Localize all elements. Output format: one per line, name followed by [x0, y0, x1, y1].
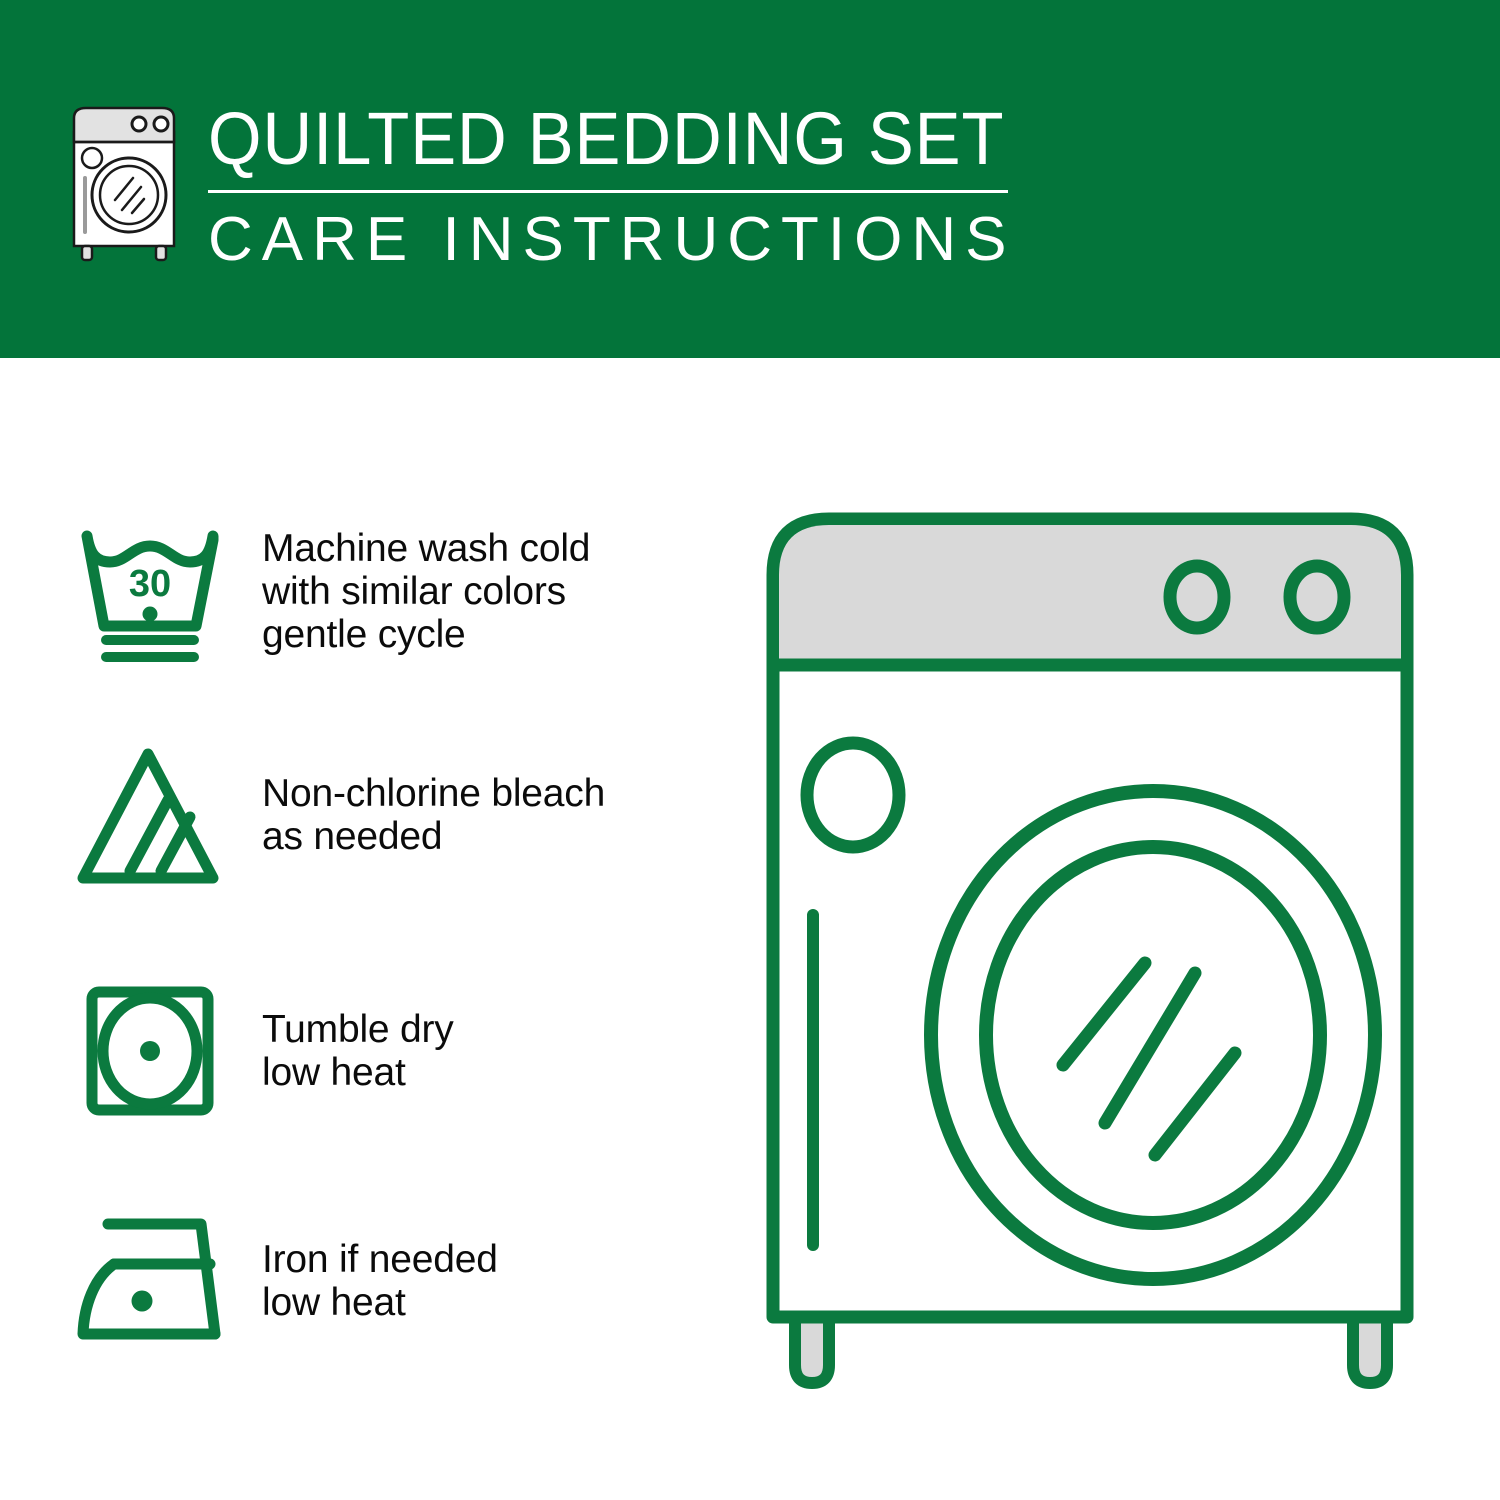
- machine-leg: [795, 1315, 829, 1383]
- care-item-tumble-dry: Tumble dry low heat: [70, 976, 710, 1126]
- care-item-iron: Iron if needed low heat: [70, 1206, 710, 1356]
- care-instruction-list: 30 Machine wash cold with similar colors…: [0, 358, 740, 1500]
- header-banner: QUILTED BEDDING SET CARE INSTRUCTIONS: [0, 0, 1500, 358]
- care-item-iron-label: Iron if needed low heat: [262, 1238, 498, 1324]
- care-item-wash: 30 Machine wash cold with similar colors…: [70, 516, 710, 666]
- care-item-tumble-dry-label: Tumble dry low heat: [262, 1008, 454, 1094]
- machine-leg: [1353, 1315, 1387, 1383]
- wash-temperature-label: 30: [129, 563, 171, 605]
- page-subtitle: CARE INSTRUCTIONS: [208, 207, 1064, 273]
- page-title: QUILTED BEDDING SET: [208, 100, 1004, 178]
- header-divider: [208, 190, 1008, 193]
- washing-machine-icon: [62, 96, 192, 266]
- non-chlorine-bleach-triangle-icon: [70, 740, 230, 890]
- wash-tub-30-gentle-icon: 30: [70, 516, 230, 666]
- header-titles: QUILTED BEDDING SET CARE INSTRUCTIONS: [208, 96, 1064, 273]
- care-item-bleach-label: Non-chlorine bleach as needed: [262, 772, 605, 858]
- header-content: QUILTED BEDDING SET CARE INSTRUCTIONS: [62, 96, 1064, 273]
- care-item-wash-label: Machine wash cold with similar colors ge…: [262, 527, 590, 656]
- iron-low-heat-icon: [70, 1206, 230, 1356]
- front-load-washing-machine-illustration: [755, 505, 1455, 1405]
- tumble-dry-low-heat-icon: [70, 976, 230, 1126]
- care-item-bleach: Non-chlorine bleach as needed: [70, 740, 710, 890]
